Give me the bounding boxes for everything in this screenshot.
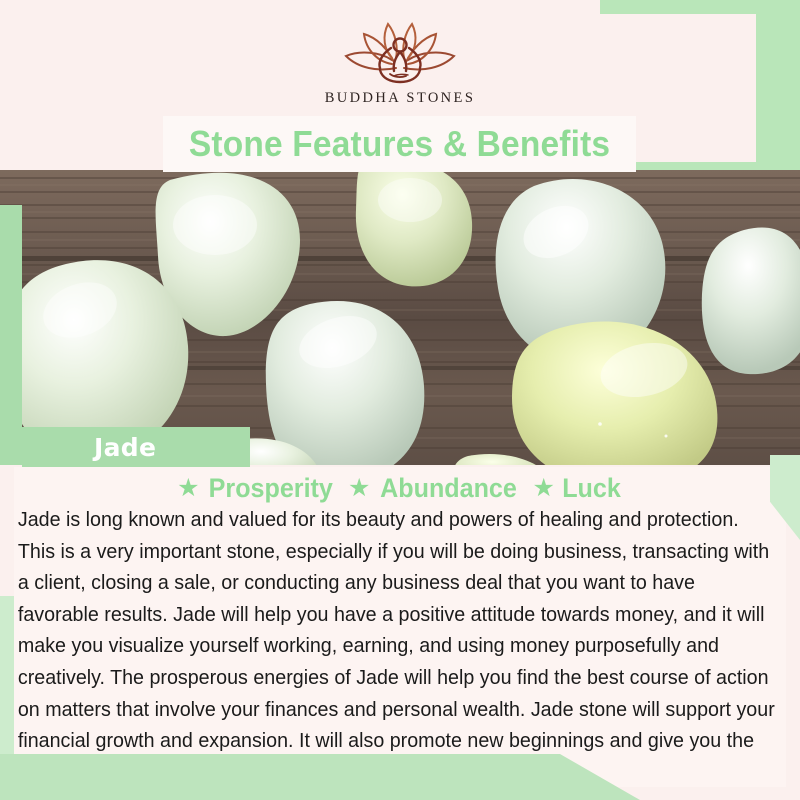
brand-logo: BUDDHA STONES [0, 18, 800, 118]
star-icon: ★ [348, 476, 370, 501]
star-icon: ★ [177, 476, 199, 501]
poster-root: BUDDHA STONES Stone Features & Benefits [0, 0, 800, 800]
tumbled-jade-stones-image [0, 170, 800, 465]
star-icon: ★ [532, 476, 554, 501]
benefit-label: Abundance [381, 473, 518, 504]
benefit-label: Luck [562, 473, 621, 504]
decor-left-band [0, 205, 22, 465]
decor-bottom-wedge [0, 754, 640, 800]
lotus-meditation-icon [334, 18, 466, 86]
benefits-row: ★ Prosperity ★ Abundance ★ Luck [14, 467, 786, 501]
benefit-item: ★ Prosperity [177, 473, 338, 504]
stone-photo [0, 170, 800, 465]
content-panel: ★ Prosperity ★ Abundance ★ Luck Jade is … [14, 467, 786, 787]
stone-name-badge: Jade [22, 427, 250, 467]
stone-name-label: Jade [94, 433, 156, 462]
benefit-label: Prosperity [209, 473, 333, 504]
benefit-item: ★ Luck [532, 473, 622, 504]
benefit-item: ★ Abundance [348, 473, 522, 504]
stone-description: Jade is long known and valued for its be… [14, 501, 785, 789]
brand-wordmark: BUDDHA STONES [325, 90, 476, 107]
title-banner: Stone Features & Benefits [163, 116, 636, 172]
page-title: Stone Features & Benefits [189, 123, 610, 165]
